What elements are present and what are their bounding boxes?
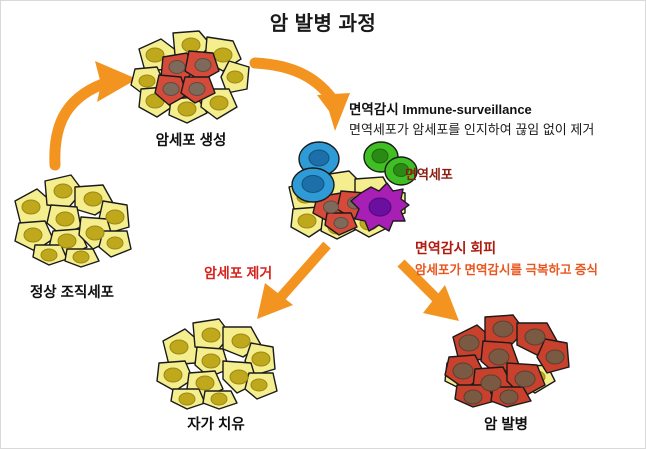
label-cancer-onset: 암 발병 xyxy=(441,413,571,434)
immune-surveillance-cell-cluster xyxy=(283,141,409,241)
immune-evasion-annotation: 면역감시 회피 암세포가 면역감시를 극복하고 증식 xyxy=(415,238,598,278)
immune-evasion-description: 암세포가 면역감시를 극복하고 증식 xyxy=(415,259,598,278)
immune-cell-legend-label: 면역세포 xyxy=(405,164,453,183)
immune-surveillance-title-ko: 면역감시 xyxy=(349,102,399,117)
immune-surveillance-title-en: Immune-surveillance xyxy=(402,102,531,117)
immune-surveillance-title: 면역감시 Immune-surveillance xyxy=(349,98,594,118)
cancer-formation-cell-cluster xyxy=(129,27,253,125)
label-cancer-formation: 암세포 생성 xyxy=(127,129,255,150)
cancer-onset-cell-cluster xyxy=(441,311,571,409)
cancer-development-diagram: 암 발병 과정 xyxy=(0,0,646,449)
immune-evasion-title: 면역감시 회피 xyxy=(415,238,598,258)
page-title: 암 발병 과정 xyxy=(1,7,645,36)
label-normal-tissue: 정상 조직세포 xyxy=(5,281,139,302)
immune-surveillance-description: 면역세포가 암세포를 인지하여 끊임 없이 제거 xyxy=(349,119,594,138)
normal-tissue-cell-cluster xyxy=(7,161,137,271)
label-self-healing: 자가 치유 xyxy=(151,413,281,434)
cancer-removal-label: 암세포 제거 xyxy=(204,263,272,283)
self-healing-cell-cluster xyxy=(153,313,279,411)
arrow-formation-to-surveillance xyxy=(251,51,361,136)
immune-surveillance-annotation: 면역감시 Immune-surveillance 면역세포가 암세포를 인지하여… xyxy=(349,98,594,138)
